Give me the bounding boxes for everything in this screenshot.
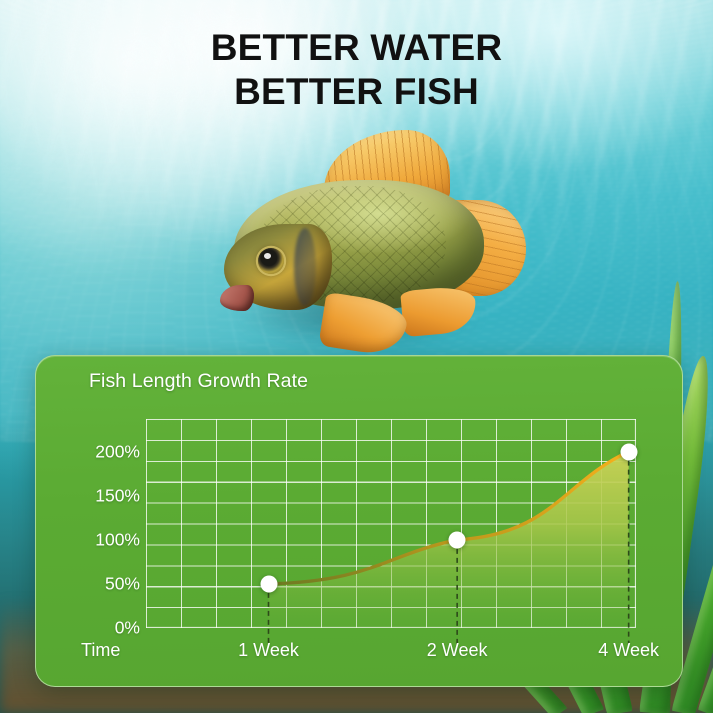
carp-fish bbox=[196, 128, 526, 343]
growth-curve bbox=[146, 419, 636, 628]
poster-canvas: BETTER WATER BETTER FISH Fish Length Gro… bbox=[0, 0, 713, 713]
y-axis-tick-label: 150% bbox=[95, 485, 140, 506]
fish-mouth bbox=[220, 285, 254, 311]
x-axis-tick-label: 2 Week bbox=[427, 640, 488, 661]
y-axis-tick-label: 0% bbox=[115, 618, 140, 639]
headline-line-1: BETTER WATER bbox=[0, 26, 713, 70]
headline-line-2: BETTER FISH bbox=[0, 70, 713, 114]
y-axis-tick-label: 50% bbox=[105, 573, 140, 594]
x-axis-name: Time bbox=[81, 640, 120, 661]
chart-data-point[interactable] bbox=[620, 443, 637, 460]
x-axis-labels: Time1 Week2 Week4 Week bbox=[81, 640, 681, 666]
y-axis-tick-label: 100% bbox=[95, 529, 140, 550]
y-axis-tick-label: 200% bbox=[95, 441, 140, 462]
y-axis-labels: 0%50%100%150%200% bbox=[74, 419, 140, 628]
x-axis-tick-label: 4 Week bbox=[598, 640, 659, 661]
headline: BETTER WATER BETTER FISH bbox=[0, 26, 713, 113]
growth-chart-card: Fish Length Growth Rate 0%50%100%150%200… bbox=[35, 355, 683, 687]
fish-gill bbox=[294, 228, 316, 306]
chart-title: Fish Length Growth Rate bbox=[89, 370, 308, 393]
fish-eye bbox=[258, 248, 284, 274]
chart-data-point[interactable] bbox=[449, 531, 466, 548]
chart-data-point[interactable] bbox=[260, 575, 277, 592]
x-axis-tick-label: 1 Week bbox=[238, 640, 299, 661]
chart-plot-area bbox=[146, 419, 636, 628]
